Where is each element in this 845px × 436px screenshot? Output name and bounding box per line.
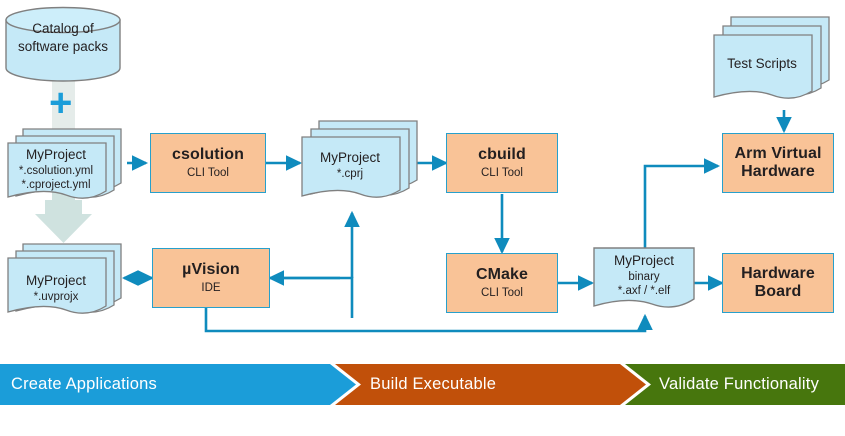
avh-title-line2: Hardware [741, 163, 815, 181]
node-csolution[interactable]: csolution CLI Tool [150, 133, 266, 193]
node-arm-virtual-hardware[interactable]: Arm Virtual Hardware [722, 133, 834, 193]
catalog-label: Catalog of software packs [4, 20, 122, 56]
uvision-subtitle: IDE [201, 282, 220, 295]
avh-title-line1: Arm Virtual [734, 145, 821, 163]
uvision-title: µVision [182, 261, 240, 279]
node-test-scripts: Test Scripts [710, 14, 832, 110]
catalog-line2: software packs [4, 38, 122, 56]
node-project-yml: MyProject *.csolution.yml *.cproject.yml [6, 125, 128, 205]
phase-label-create: Create Applications [11, 364, 157, 405]
document-stack-shape [6, 240, 128, 320]
phase-label-build: Build Executable [370, 364, 496, 405]
node-cmake[interactable]: CMake CLI Tool [446, 253, 558, 313]
cmake-subtitle: CLI Tool [481, 287, 523, 300]
node-catalog: Catalog of software packs [4, 6, 122, 82]
document-stack-shape [300, 118, 422, 210]
node-cbuild[interactable]: cbuild CLI Tool [446, 133, 558, 193]
node-hardware-board[interactable]: Hardware Board [722, 253, 834, 313]
csolution-title: csolution [172, 146, 244, 164]
hw-board-title-line2: Board [755, 283, 802, 301]
document-stack-shape [710, 14, 832, 110]
cbuild-subtitle: CLI Tool [481, 167, 523, 180]
hw-board-title-line1: Hardware [741, 265, 815, 283]
diagram-canvas: Catalog of software packs + MyProject *.… [0, 0, 845, 436]
phase-label-validate: Validate Functionality [659, 364, 819, 405]
document-stack-shape [6, 125, 128, 205]
document-shape [592, 246, 696, 318]
catalog-line1: Catalog of [4, 20, 122, 38]
node-project-cprj: MyProject *.cprj [300, 118, 422, 210]
cmake-title: CMake [476, 266, 528, 284]
cbuild-title: cbuild [478, 146, 526, 164]
node-binary: MyProject binary *.axf / *.elf [592, 246, 696, 318]
node-project-uvprojx: MyProject *.uvprojx [6, 240, 128, 320]
phase-banner: Create Applications Build Executable Val… [0, 364, 845, 405]
node-uvision[interactable]: µVision IDE [152, 248, 270, 308]
csolution-subtitle: CLI Tool [187, 167, 229, 180]
plus-icon: + [49, 83, 72, 123]
